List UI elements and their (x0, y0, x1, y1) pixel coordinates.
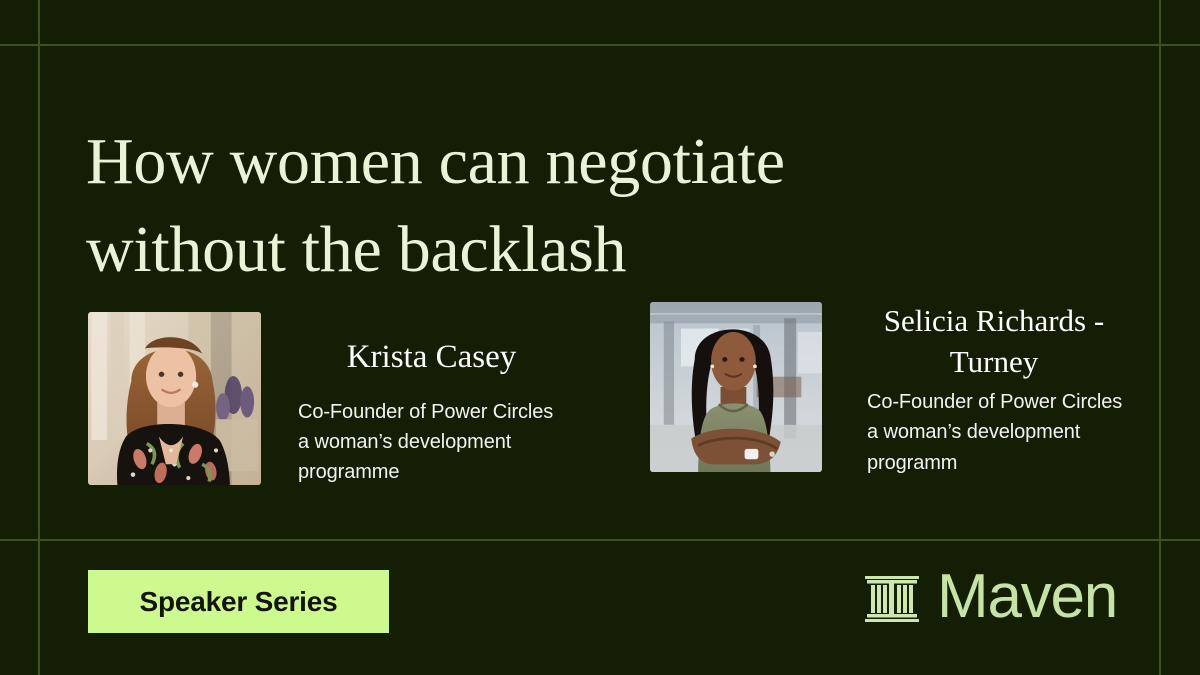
speaker-name: Krista Casey (294, 338, 569, 378)
grid-line-vertical-left (38, 0, 40, 675)
speaker-name: Selicia Richards - Turney (854, 301, 1134, 383)
grid-line-horizontal-top (0, 44, 1200, 46)
grid-line-horizontal-bottom (0, 539, 1200, 541)
speaker-series-badge: Speaker Series (88, 570, 389, 633)
grid-line-vertical-right (1159, 0, 1161, 675)
speaker-bio: Co-Founder of Power Circles a woman’s de… (867, 387, 1134, 478)
speaker-text: Krista Casey Co-Founder of Power Circles… (294, 300, 569, 488)
badge-label: Speaker Series (139, 586, 337, 618)
brand-lockup: Maven (861, 566, 1117, 628)
speaker-photo (88, 312, 261, 485)
speaker-text: Selicia Richards - Turney Co-Founder of … (854, 292, 1134, 478)
slide-title: How women can negotiate without the back… (86, 118, 1086, 294)
speaker-bio: Co-Founder of Power Circles a woman’s de… (298, 397, 569, 488)
brand-name: Maven (937, 566, 1117, 628)
presentation-slide: How women can negotiate without the back… (0, 0, 1200, 675)
speaker-card: Selicia Richards - Turney Co-Founder of … (650, 292, 1134, 478)
speaker-card: Krista Casey Co-Founder of Power Circles… (88, 300, 569, 488)
temple-columns-icon (861, 566, 923, 628)
speaker-photo (650, 302, 822, 472)
